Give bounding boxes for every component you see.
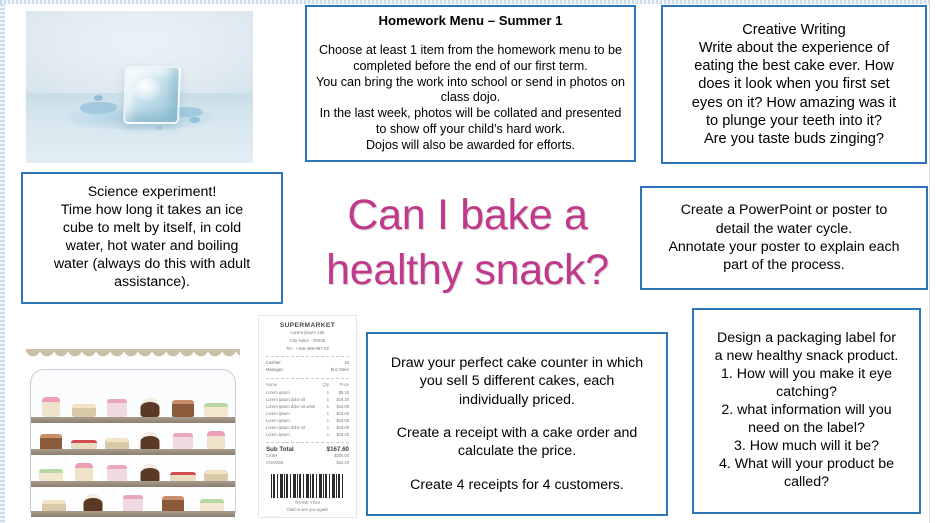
receipt-col-price: Price [329,382,349,387]
science-experiment-line: cube to melt by itself, in cold [29,220,275,238]
cake-counter-line: you sell 5 different cakes, each [374,372,660,390]
cake-item [168,391,198,417]
cake-item [158,487,188,513]
receipt-city: City index - 00035 [266,338,349,345]
science-experiment-box: Science experiment! Time how long it tak… [21,172,283,304]
cake-item [135,425,165,451]
receipt-subtotal-row: Sub Total $167.60 [266,446,349,453]
receipt-divider [266,378,349,379]
homework-menu-line: You can bring the work into school or se… [313,75,628,91]
packaging-label-box: Design a packaging label for a new healt… [692,308,921,514]
receipt-change-value: $32.40 [336,460,349,467]
cake-item [102,425,132,451]
cake-item [39,487,69,513]
bakery-shelf-row [34,421,232,451]
cake-item [36,457,66,483]
receipt-item-qty: 1 [315,410,329,417]
water-cycle-line: Create a PowerPoint or poster to [648,201,920,219]
receipt-subtotal-label: Sub Total [266,446,294,453]
receipt-manager-value: Eric Steer [331,367,349,374]
receipt-item-name: Lorem ipsum [266,431,315,438]
receipt-tel: Tel.: +456-468-987-02 [266,346,349,353]
water-cycle-line: Annotate your poster to explain each [648,238,920,256]
homework-menu-line: Choose at least 1 item from the homework… [313,43,628,59]
water-cycle-line: detail the water cycle. [648,220,920,238]
cake-counter-line: individually priced. [374,391,660,409]
homework-menu-line: In the last week, photos will be collate… [313,106,628,122]
creative-writing-line: to plunge your teeth into it? [669,112,919,130]
receipt-cash-row: CASH $200.00 [266,453,349,460]
receipt-item-name: Lorem ipsum [266,410,315,417]
cake-counter-line: Create a receipt with a cake order and [374,424,660,442]
creative-writing-line: eyes on it? How amazing was it [669,94,919,112]
cake-counter-line: Create 4 receipts for 4 customers. [374,476,660,494]
receipt-item-qty: 1 [315,431,329,438]
receipt-divider [266,442,349,443]
page-title-line-1: Can I bake a [300,188,635,243]
receipt-thanks-line-2: Glad to see you again! [266,507,349,514]
receipt-col-name: Name [266,382,315,387]
receipt-item-row: Lorem ipsum 1 $15.00 [266,417,349,424]
packaging-label-line: 2. what information will you [700,402,913,420]
receipt-item-price: $15.00 [329,424,349,431]
cake-item [168,457,198,483]
ice-cube-image [26,11,253,163]
receipt-item-row: Lorem ipsum 1 $13.00 [266,410,349,417]
receipt-cashier-row: Cashier: 43 [266,360,349,367]
page-border-left [0,0,5,523]
homework-menu-line: to show off your child’s hard work. [313,122,628,138]
receipt-item-qty: 1 [315,389,329,396]
receipt-col-qty: Qty [315,382,329,387]
receipt-item-price: $15.00 [329,403,349,410]
cake-counter-box: Draw your perfect cake counter in which … [366,332,668,516]
packaging-label-line: 4. What will your product be [700,456,913,474]
receipt-code: 10257-B [266,516,349,518]
receipt-item-qty: 1 [315,396,329,403]
cake-item [197,487,227,513]
creative-writing-line: Write about the experience of [669,39,919,57]
receipt-item-name: Lorem ipsum dolor sit amet [266,403,315,410]
receipt-manager-row: Manager: Eric Steer [266,367,349,374]
cake-item [69,391,99,417]
cake-item [135,457,165,483]
receipt-manager-label: Manager: [266,367,284,374]
cake-item [201,425,231,451]
receipt-divider [266,356,349,357]
packaging-label-line: called? [700,474,913,492]
receipt-item-price: $19.20 [329,431,349,438]
receipt-item-name: Lorem ipsum dolor sit [266,424,315,431]
page-border-right [929,0,939,523]
receipt-item-price: $13.00 [329,410,349,417]
paragraph-spacer [374,409,660,424]
cake-item [36,391,66,417]
water-cycle-line: part of the process. [648,256,920,274]
homework-menu-title: Homework Menu – Summer 1 [313,13,628,30]
packaging-label-line: catching? [700,384,913,402]
packaging-label-line: need on the label? [700,420,913,438]
page-border-top [0,0,939,4]
receipt-image: SUPERMARKET Lorem ipsum 158 City index -… [258,315,357,518]
receipt-change-label: CHANGE [266,460,284,467]
cake-item [168,425,198,451]
receipt-cashier-label: Cashier: [266,360,282,367]
receipt-table-header: Name Qty Price [266,382,349,387]
receipt-item-name: Lorem ipsum [266,417,315,424]
science-experiment-line: water (always do this with adult [29,256,275,274]
homework-menu-poster: Homework Menu – Summer 1 Choose at least… [0,0,939,523]
bakery-shelf [31,511,235,517]
receipt-cashier-value: 43 [344,360,349,367]
water-drop [94,95,103,101]
creative-writing-line: Are you taste buds zinging? [669,130,919,148]
homework-menu-line: Dojos will also be awarded for efforts. [313,138,628,154]
receipt-change-row: CHANGE $32.40 [266,460,349,467]
cake-item [201,457,231,483]
receipt-item-row: Lorem ipsum dolor sit 1 $15.00 [266,424,349,431]
homework-menu-line: class dojo. [313,90,628,106]
packaging-label-line: Design a packaging label for [700,330,913,348]
homework-menu-line: completed before the end of our first te… [313,59,628,75]
cake-counter-line: calculate the price. [374,442,660,460]
homework-menu-box: Homework Menu – Summer 1 Choose at least… [305,5,636,162]
receipt-item-qty: 1 [315,424,329,431]
ice-cube [123,66,181,124]
receipt-item-name: Lorem ipsum dolor sit [266,396,315,403]
science-experiment-line: assistance). [29,274,275,292]
receipt-item-price: $9.20 [329,389,349,396]
page-title-line-2: healthy snack? [300,243,635,298]
cake-item [102,391,132,417]
packaging-label-line: 3. How much will it be? [700,438,913,456]
receipt-item-name: Lorem ipsum [266,389,315,396]
paragraph-spacer [374,461,660,476]
cake-item [36,425,66,451]
receipt-address: Lorem ipsum 158 [266,330,349,337]
receipt-item-qty: 1 [315,403,329,410]
bakery-display-image [22,325,244,521]
receipt-item-price: $15.00 [329,417,349,424]
page-title: Can I bake a healthy snack? [300,188,635,298]
receipt-cash-label: CASH [266,453,277,460]
bakery-shelf-row [34,387,232,417]
receipt-item-row: Lorem ipsum dolor sit 1 $19.20 [266,396,349,403]
packaging-label-line: a new healthy snack product. [700,348,913,366]
creative-writing-box: Creative Writing Write about the experie… [661,5,927,164]
barcode-icon [271,474,345,498]
bakery-shelf-row [34,483,232,513]
receipt-item-row: Lorem ipsum 1 $19.20 [266,431,349,438]
receipt-store-name: SUPERMARKET [266,322,349,329]
creative-writing-title: Creative Writing [669,21,919,39]
creative-writing-line: does it look when you first set [669,75,919,93]
packaging-label-line: 1. How will you make it eye [700,366,913,384]
cake-item [201,391,231,417]
receipt-item-qty: 1 [315,417,329,424]
cake-item [78,487,108,513]
receipt-item-row: Lorem ipsum 1 $9.20 [266,389,349,396]
cake-counter-line: Draw your perfect cake counter in which [374,354,660,372]
creative-writing-line: eating the best cake ever. How [669,57,919,75]
receipt-item-row: Lorem ipsum dolor sit amet 1 $15.00 [266,403,349,410]
cake-item [69,425,99,451]
bakery-awning [26,349,240,361]
water-cycle-box: Create a PowerPoint or poster to detail … [640,186,928,290]
cake-item [102,457,132,483]
receipt-item-price: $19.20 [329,396,349,403]
science-experiment-line: Time how long it takes an ice [29,202,275,220]
science-experiment-line: water, hot water and boiling [29,238,275,256]
science-experiment-title: Science experiment! [29,184,275,202]
receipt-subtotal-value: $167.60 [327,446,349,453]
cake-item [69,457,99,483]
cake-item [135,391,165,417]
bakery-shelf-row [34,453,232,483]
receipt-cash-value: $200.00 [334,453,349,460]
cake-item [118,487,148,513]
